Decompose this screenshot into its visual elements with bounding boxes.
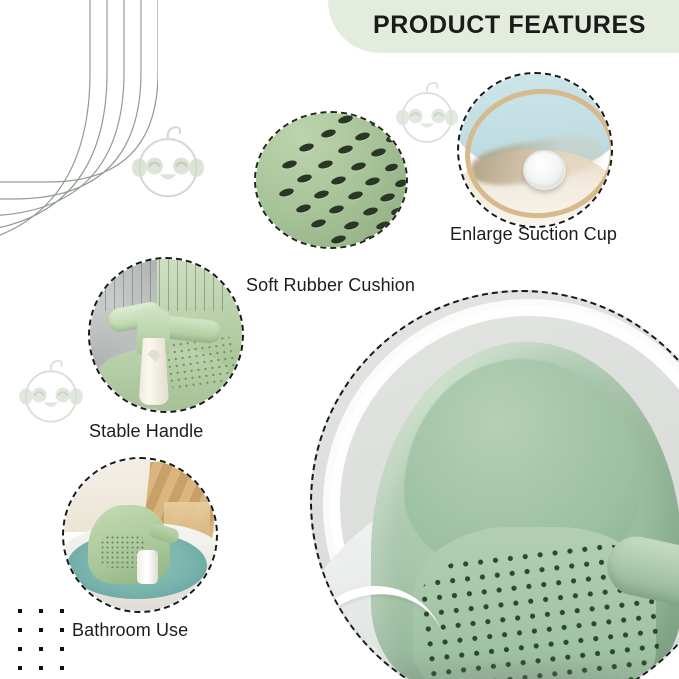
perforated-cushion-icon xyxy=(254,111,408,249)
soft-rubber-cushion-image xyxy=(254,111,408,249)
suction-cup-icon xyxy=(459,74,611,226)
infographic-canvas: PRODUCT FEATURES xyxy=(0,0,679,679)
stable-handle-image xyxy=(88,257,244,413)
baby-face-watermark xyxy=(126,124,210,208)
hero-shadow xyxy=(312,662,679,679)
page-title: PRODUCT FEATURES xyxy=(373,11,646,40)
bathroom-use-image xyxy=(62,457,218,613)
enlarge-suction-cup-image xyxy=(457,72,613,228)
label-bathroom-use: Bathroom Use xyxy=(72,620,188,641)
dot-grid-decoration xyxy=(18,609,64,673)
handle-icon xyxy=(90,259,242,411)
label-enlarge-suction-cup: Enlarge Suction Cup xyxy=(450,224,617,245)
main-product-photo xyxy=(310,290,679,679)
bathtub-icon xyxy=(64,459,216,611)
product-features-banner: PRODUCT FEATURES xyxy=(328,0,679,53)
label-soft-rubber-cushion: Soft Rubber Cushion xyxy=(246,275,415,296)
baby-face-watermark xyxy=(14,358,88,432)
label-stable-handle: Stable Handle xyxy=(89,421,203,442)
